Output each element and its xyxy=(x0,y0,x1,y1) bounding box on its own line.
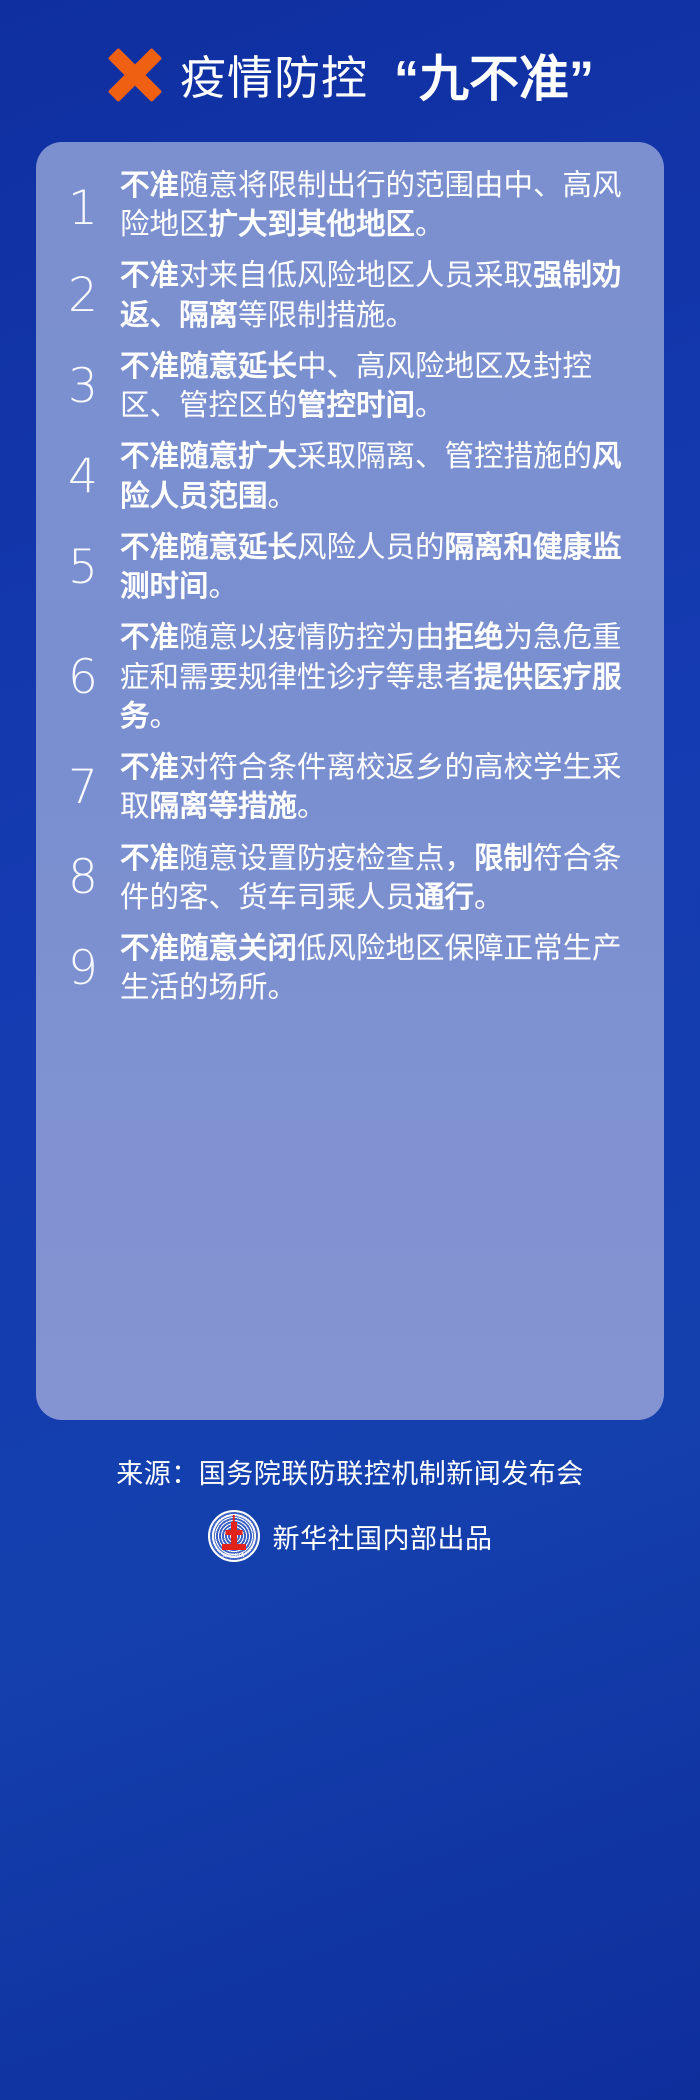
page-header: 疫情防控 “九不准” xyxy=(0,32,700,118)
rule-text: 不准随意将限制出行的范围由中、高风险地区扩大到其他地区。 xyxy=(120,166,638,244)
rule-number: 4 xyxy=(46,453,120,500)
rule-item: 8 不准随意设置防疫检查点，限制符合条件的客、货车司乘人员通行。 xyxy=(46,839,638,917)
rule-text: 不准随意延长中、高风险地区及封控区、管控区的管控时间。 xyxy=(120,347,638,425)
rule-item: 2 不准对来自低风险地区人员采取强制劝返、隔离等限制措施。 xyxy=(46,256,638,334)
rule-text: 不准对符合条件离校返乡的高校学生采取隔离等措施。 xyxy=(120,748,638,826)
rule-text: 不准随意以疫情防控为由拒绝为急危重症和需要规律性诊疗等患者提供医疗服务。 xyxy=(120,618,638,736)
cross-x-icon xyxy=(106,46,164,104)
rule-text: 不准随意延长风险人员的隔离和健康监测时间。 xyxy=(120,528,638,606)
rule-item: 7 不准对符合条件离校返乡的高校学生采取隔离等措施。 xyxy=(46,748,638,826)
xinhua-logo-icon: XINHUA xyxy=(208,1510,260,1562)
rule-text: 不准对来自低风险地区人员采取强制劝返、隔离等限制措施。 xyxy=(120,256,638,334)
rule-text: 不准随意扩大采取隔离、管控措施的风险人员范围。 xyxy=(120,437,638,515)
rule-number: 8 xyxy=(46,854,120,901)
rule-number: 2 xyxy=(46,272,120,319)
rule-item: 1 不准随意将限制出行的范围由中、高风险地区扩大到其他地区。 xyxy=(46,166,638,244)
credit-label: 新华社国内部出品 xyxy=(273,1517,493,1556)
rule-number: 9 xyxy=(46,945,120,992)
rules-card: 1 不准随意将限制出行的范围由中、高风险地区扩大到其他地区。 2 不准对来自低风… xyxy=(36,142,664,1420)
page-title-emphasis: “九不准” xyxy=(394,39,594,111)
rule-number: 6 xyxy=(46,654,120,701)
rule-item: 5 不准随意延长风险人员的隔离和健康监测时间。 xyxy=(46,528,638,606)
credit-row: XINHUA 新华社国内部出品 xyxy=(0,1510,700,1562)
rule-item: 9 不准随意关闭低风险地区保障正常生产生活的场所。 xyxy=(46,929,638,1007)
rule-number: 7 xyxy=(46,764,120,811)
source-line: 来源：国务院联防联控机制新闻发布会 xyxy=(0,1452,700,1491)
rule-number: 3 xyxy=(46,363,120,410)
rule-text: 不准随意关闭低风险地区保障正常生产生活的场所。 xyxy=(120,929,638,1007)
rule-text: 不准随意设置防疫检查点，限制符合条件的客、货车司乘人员通行。 xyxy=(120,839,638,917)
xinhua-logo-text: XINHUA xyxy=(210,1553,258,1559)
rule-item: 6 不准随意以疫情防控为由拒绝为急危重症和需要规律性诊疗等患者提供医疗服务。 xyxy=(46,618,638,736)
rule-number: 5 xyxy=(46,544,120,591)
rule-item: 4 不准随意扩大采取隔离、管控措施的风险人员范围。 xyxy=(46,437,638,515)
page-title: 疫情防控 xyxy=(180,42,368,108)
rule-number: 1 xyxy=(46,185,120,232)
rule-item: 3 不准随意延长中、高风险地区及封控区、管控区的管控时间。 xyxy=(46,347,638,425)
